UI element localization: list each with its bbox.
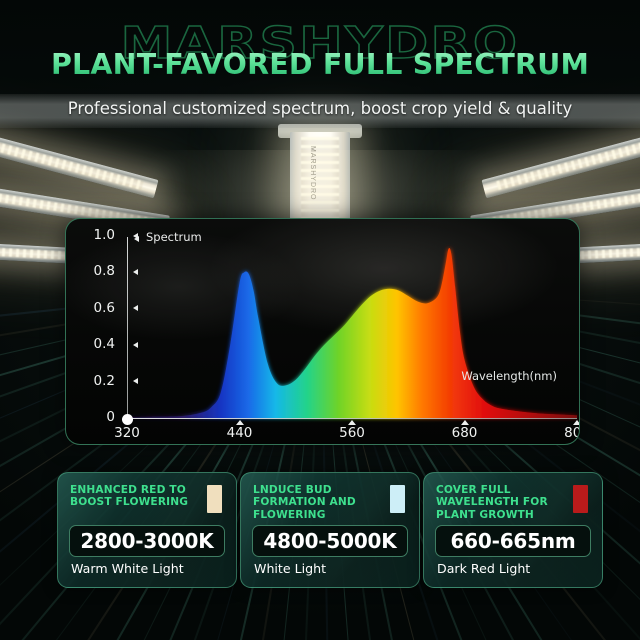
y-axis-tick-icon	[133, 269, 138, 275]
spec-card-warm-white[interactable]: ENHANCED RED TO BOOST FLOWERING 2800-300…	[57, 472, 237, 588]
x-tick-label: 440	[217, 425, 263, 441]
x-tick-label: 680	[442, 425, 488, 441]
y-tick-label: 0.8	[77, 263, 115, 279]
x-tick-label: 560	[329, 425, 375, 441]
card-value: 4800-5000K	[263, 529, 396, 553]
led-diodes	[0, 129, 144, 190]
spec-card-white[interactable]: LNDUCE BUD FORMATION AND FLOWERING 4800-…	[240, 472, 420, 588]
card-caption: Dark Red Light	[437, 561, 530, 576]
page-title: PLANT-FAVORED FULL SPECTRUM	[0, 48, 640, 81]
spec-card-dark-red[interactable]: COVER FULL WAVELENGTH FOR PLANT GROWTH 6…	[423, 472, 603, 588]
card-headline: COVER FULL WAVELENGTH FOR PLANT GROWTH	[436, 484, 562, 521]
card-value-box: 660-665nm	[435, 525, 591, 557]
y-axis-tick-icon	[133, 378, 138, 384]
spectrum-chart-panel: Spectrum Wavelength(nm) 00.20.40.60.81.0…	[65, 218, 580, 445]
spectrum-curve	[66, 219, 579, 444]
chart-legend-label: Spectrum	[146, 230, 202, 244]
y-tick-label: 0.2	[77, 373, 115, 389]
card-value-box: 4800-5000K	[252, 525, 408, 557]
y-axis-tick-icon	[133, 342, 138, 348]
warm-white-swatch	[207, 485, 222, 513]
x-axis-tick-icon	[573, 420, 580, 425]
card-caption: White Light	[254, 561, 326, 576]
x-axis-title: Wavelength(nm)	[461, 369, 557, 383]
x-tick-label: 320	[104, 425, 150, 441]
fixture-brand-label: MARSHYDRO	[309, 146, 316, 201]
card-headline: LNDUCE BUD FORMATION AND FLOWERING	[253, 484, 379, 521]
chart-inner: Spectrum Wavelength(nm) 00.20.40.60.81.0…	[66, 219, 579, 444]
spec-cards-row: ENHANCED RED TO BOOST FLOWERING 2800-300…	[0, 472, 640, 592]
card-headline: ENHANCED RED TO BOOST FLOWERING	[70, 484, 196, 509]
deep-red-swatch	[573, 485, 588, 513]
x-tick-label: 800	[554, 425, 580, 441]
card-value: 660-665nm	[450, 529, 575, 553]
card-value-box: 2800-3000K	[69, 525, 225, 557]
page-subtitle: Professional customized spectrum, boost …	[0, 99, 640, 118]
x-axis-tick-icon	[461, 420, 469, 425]
x-axis-tick-icon	[236, 420, 244, 425]
led-diodes	[496, 129, 640, 190]
origin-marker	[122, 414, 133, 425]
y-axis-tick-icon	[133, 305, 138, 311]
poster-stage: MARSHYDRO MARSHYDRO PLANT-FAVORED FULL S…	[0, 0, 640, 640]
y-tick-label: 0.4	[77, 336, 115, 352]
card-caption: Warm White Light	[71, 561, 184, 576]
header: MARSHYDRO PLANT-FAVORED FULL SPECTRUM Pr…	[0, 0, 640, 132]
card-value: 2800-3000K	[80, 529, 213, 553]
cool-white-swatch	[390, 485, 405, 513]
y-tick-label: 0.6	[77, 300, 115, 316]
y-tick-label: 0	[77, 409, 115, 425]
y-axis-line	[127, 237, 128, 419]
y-tick-label: 1.0	[77, 227, 115, 243]
y-axis-tick-icon	[133, 233, 138, 239]
led-bar-right-1	[481, 121, 640, 199]
led-bar-left-1	[0, 121, 159, 199]
x-axis-tick-icon	[348, 420, 356, 425]
